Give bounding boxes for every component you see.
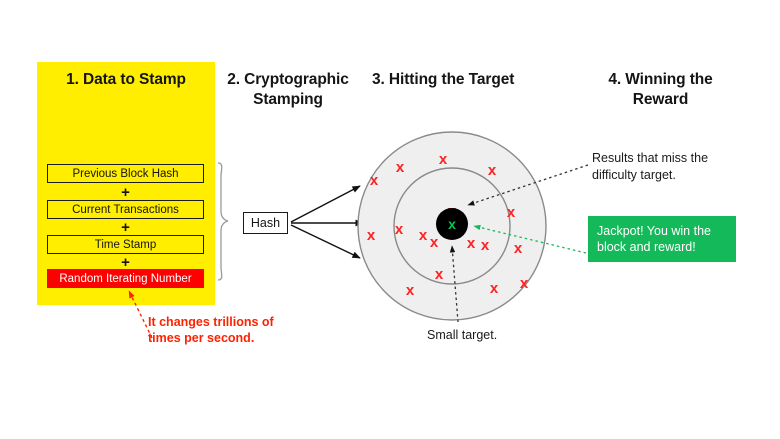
miss-marker: x	[419, 227, 428, 244]
miss-marker: x	[435, 266, 444, 283]
diagram-vector-layer: x x x x x x x x x x x x x x x x x x	[0, 0, 780, 439]
miss-marker: x	[488, 162, 497, 179]
curly-brace	[218, 163, 228, 280]
miss-marker: x	[467, 235, 476, 252]
miss-marker: x	[406, 282, 415, 299]
miss-marker: x	[514, 240, 523, 257]
hash-to-target-arrows	[291, 186, 363, 258]
miss-marker: x	[395, 221, 404, 238]
miss-marker: x	[430, 234, 439, 251]
miss-marker: x	[396, 159, 405, 176]
hit-marker: x	[448, 216, 456, 232]
miss-marker: x	[439, 151, 448, 168]
nonce-leader-line	[129, 291, 152, 338]
miss-marker: x	[481, 237, 490, 254]
miss-marker: x	[367, 227, 376, 244]
bullseye: x	[436, 208, 468, 240]
miss-marker: x	[507, 204, 516, 221]
miss-marker: x	[370, 172, 379, 189]
diagram-canvas: 1. Data to Stamp 2. Cryptographic Stampi…	[0, 0, 780, 439]
miss-marker: x	[520, 275, 529, 292]
miss-marker: x	[490, 280, 499, 297]
